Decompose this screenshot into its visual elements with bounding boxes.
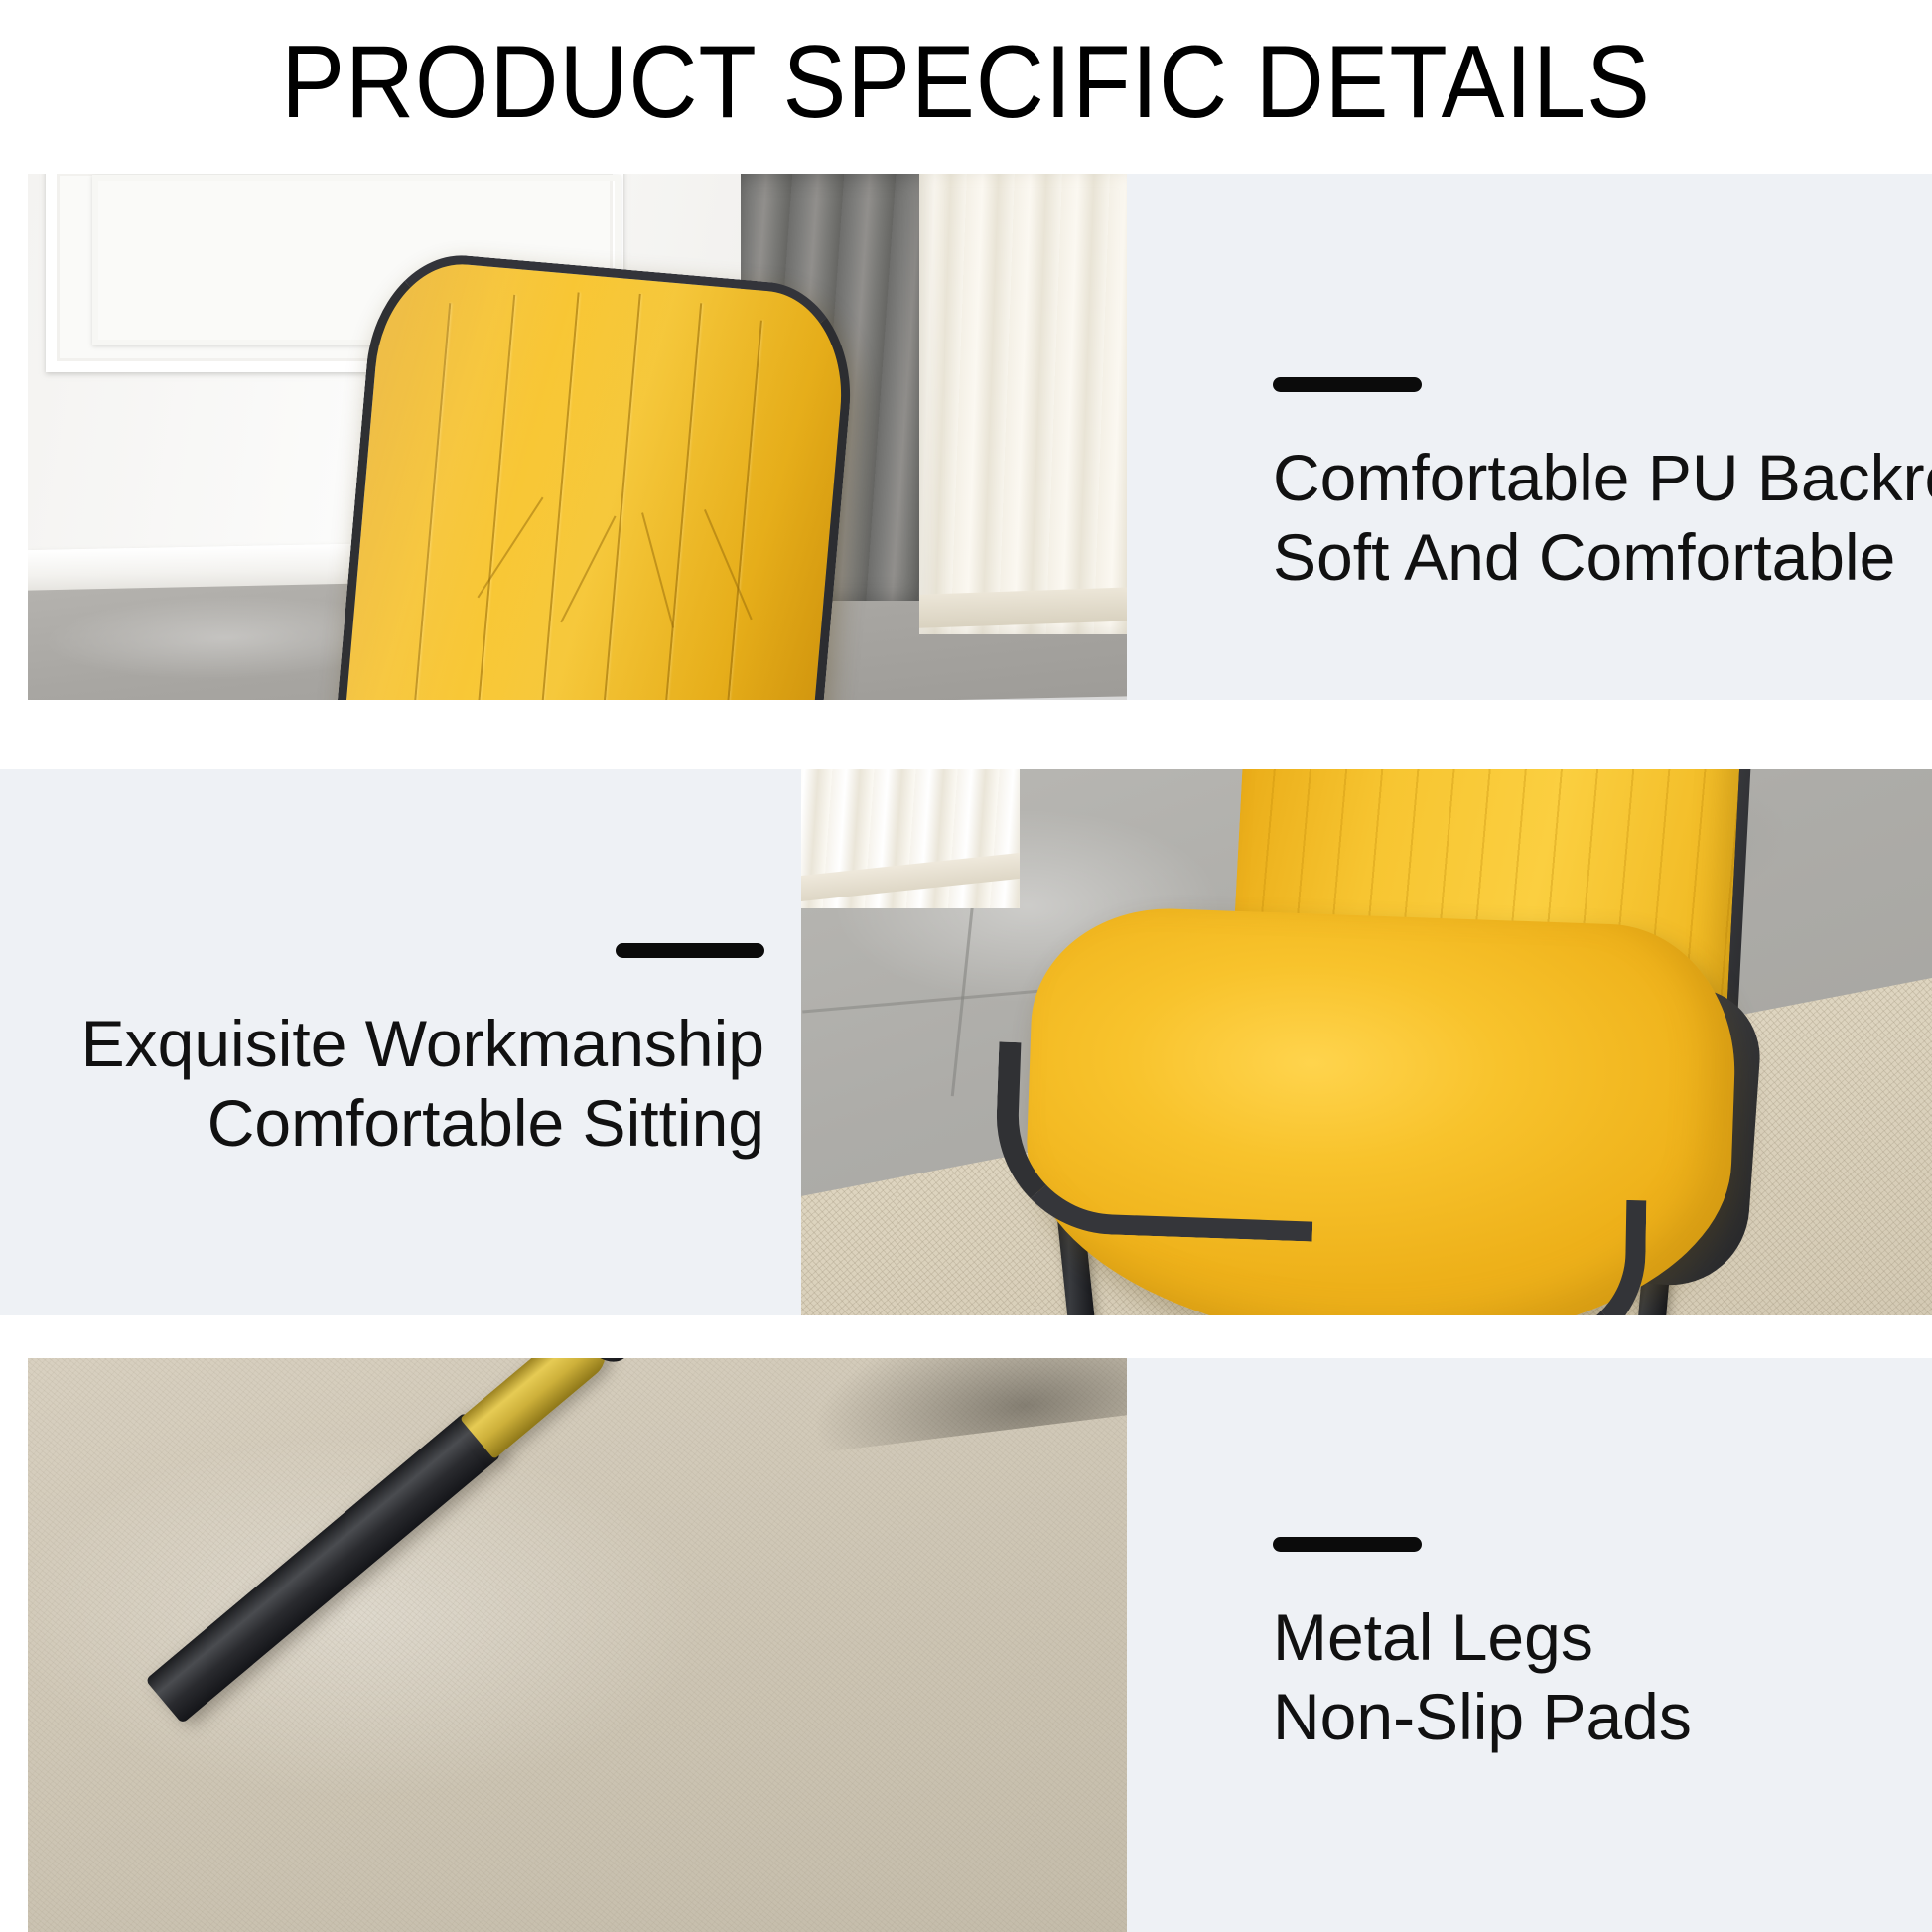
chair-backrest — [336, 248, 860, 700]
caption-panel-legs: Metal Legs Non-Slip Pads — [1127, 1358, 1932, 1932]
sheer-curtain — [919, 174, 1127, 634]
seat-piping-bottom — [1158, 1192, 1647, 1315]
page-title: PRODUCT SPECIFIC DETAILS — [77, 28, 1855, 137]
caption-panel-backrest: Comfortable PU Backrest Soft And Comfort… — [1127, 174, 1932, 700]
caption-line-2: Soft And Comfortable — [1273, 517, 1932, 597]
product-photo-backrest — [28, 174, 1127, 700]
detail-section-workmanship: Exquisite Workmanship Comfortable Sittin… — [0, 769, 1932, 1315]
sheer-curtain-hem — [919, 587, 1127, 628]
detail-section-backrest: Comfortable PU Backrest Soft And Comfort… — [28, 174, 1932, 700]
rule-marker-icon — [616, 943, 764, 958]
caption-line-1: Metal Legs — [1273, 1597, 1932, 1677]
product-photo-leg — [28, 1358, 1127, 1932]
rule-marker-icon — [1273, 1537, 1422, 1552]
product-photo-seat — [801, 769, 1932, 1315]
rule-marker-icon — [1273, 377, 1422, 392]
caption-line-1: Exquisite Workmanship — [0, 1004, 764, 1083]
caption-line-2: Comfortable Sitting — [0, 1083, 764, 1163]
caption-panel-workmanship: Exquisite Workmanship Comfortable Sittin… — [0, 769, 801, 1315]
caption-line-1: Comfortable PU Backrest — [1273, 438, 1932, 517]
caption-line-2: Non-Slip Pads — [1273, 1677, 1932, 1756]
leather-shading — [345, 257, 850, 700]
detail-section-legs: Metal Legs Non-Slip Pads — [28, 1358, 1932, 1932]
